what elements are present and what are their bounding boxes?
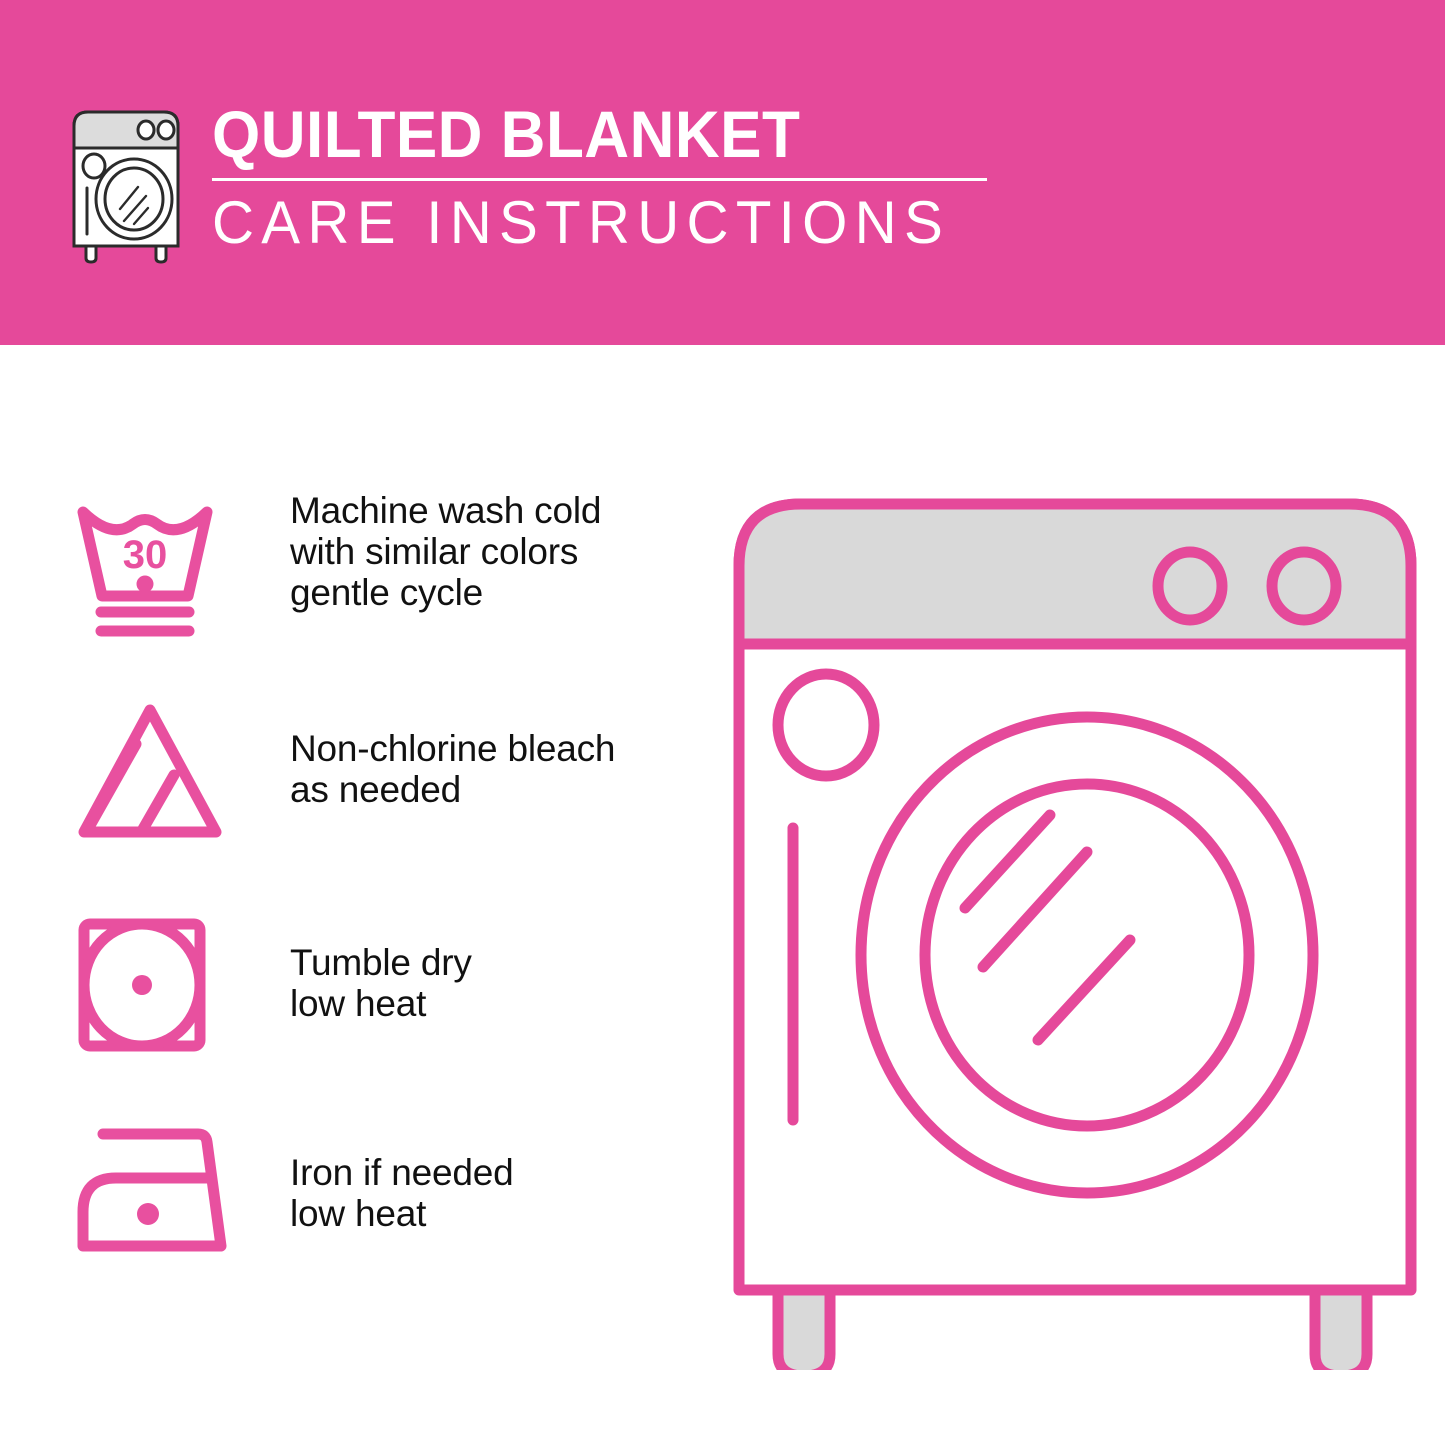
page-subtitle: CARE INSTRUCTIONS [212, 190, 964, 256]
iron-low-heat-icon [70, 1120, 240, 1270]
washer-drum-inner [925, 784, 1249, 1126]
washer-knob-right [1272, 552, 1336, 620]
header-content: QUILTED BLANKET CARE INSTRUCTIONS [62, 98, 987, 264]
washer-leg-left [778, 1290, 830, 1370]
care-label-bleach: Non-chlorine bleach as needed [290, 728, 685, 810]
detergent-dispenser-icon [778, 674, 874, 776]
title-divider [212, 178, 987, 181]
care-row-tumble-dry: Tumble dry low heat [0, 886, 700, 1094]
care-row-machine-wash: 30 Machine wash cold with similar colors… [0, 470, 700, 678]
wash-temperature-value: 30 [123, 533, 168, 577]
care-row-bleach: Non-chlorine bleach as needed [0, 678, 700, 886]
header-band: QUILTED BLANKET CARE INSTRUCTIONS [0, 0, 1445, 345]
care-row-iron: Iron if needed low heat [0, 1094, 700, 1302]
care-instructions-page: QUILTED BLANKET CARE INSTRUCTIONS 30 [0, 0, 1445, 1445]
wash-tub-30-icon: 30 [70, 492, 240, 642]
front-load-washing-machine-illustration [715, 480, 1435, 1370]
care-instruction-list: 30 Machine wash cold with similar colors… [0, 470, 700, 1302]
page-title: QUILTED BLANKET [212, 98, 941, 170]
washing-machine-icon [62, 104, 190, 264]
non-chlorine-bleach-triangle-icon [70, 696, 240, 846]
care-label-iron: Iron if needed low heat [290, 1152, 685, 1234]
care-label-machine-wash: Machine wash cold with similar colors ge… [290, 490, 685, 613]
tumble-dry-low-icon [70, 910, 240, 1060]
header-text-block: QUILTED BLANKET CARE INSTRUCTIONS [212, 98, 987, 256]
care-label-tumble-dry: Tumble dry low heat [290, 942, 685, 1024]
washer-leg-right [1315, 1290, 1367, 1370]
washer-knob-left [1158, 552, 1222, 620]
